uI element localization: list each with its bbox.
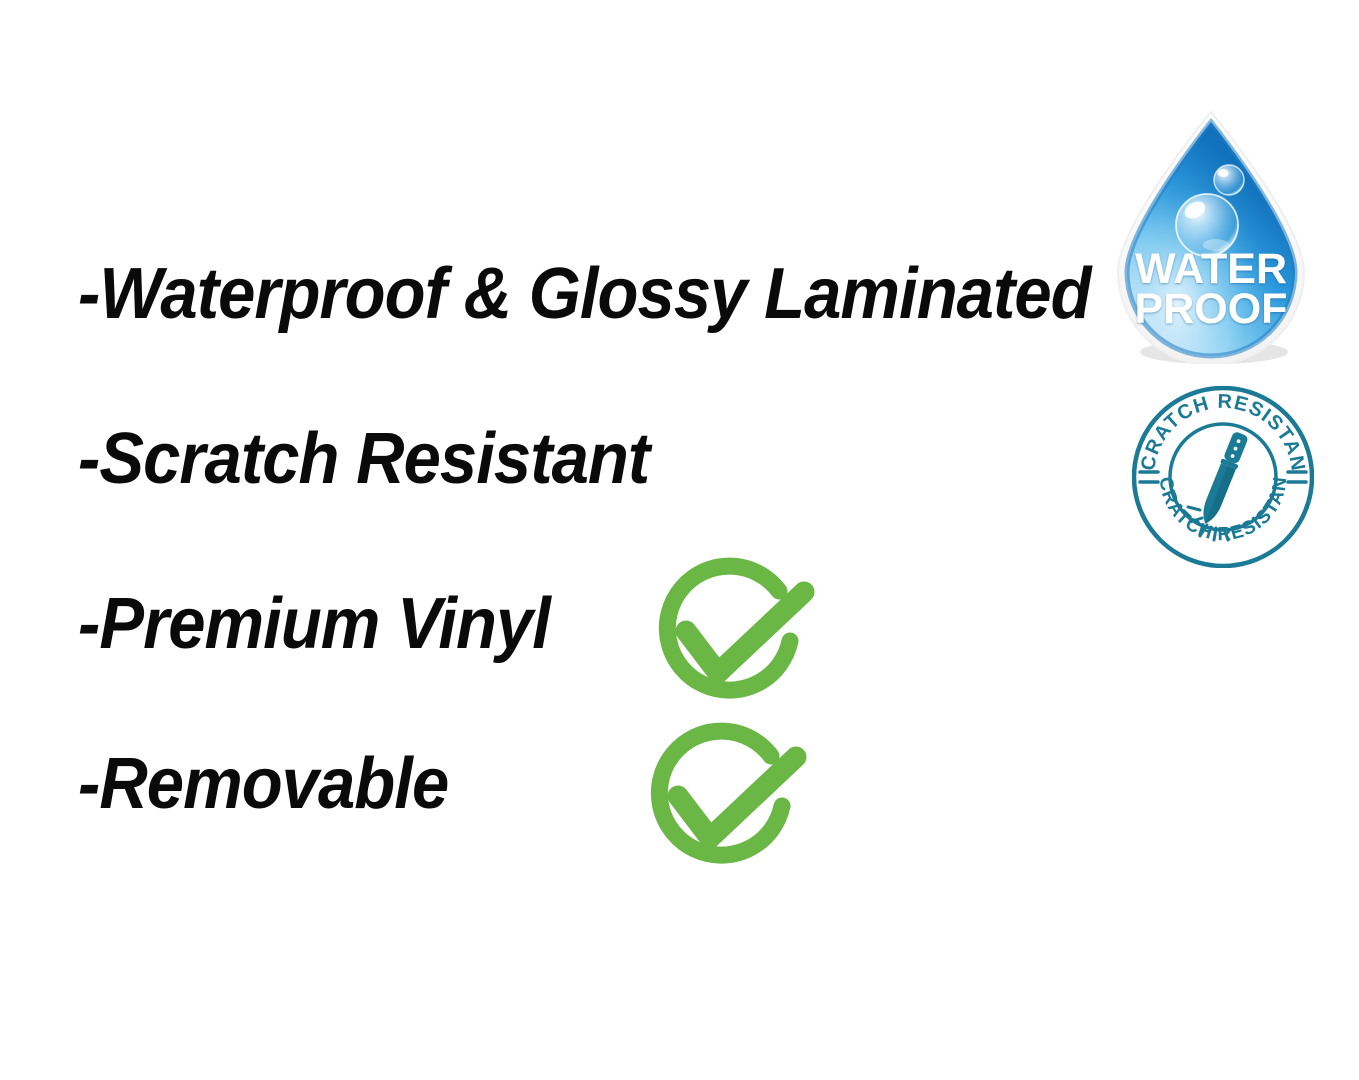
feature-item-waterproof-glossy-laminated: -Waterproof & Glossy Laminated	[78, 258, 1091, 330]
feature-item-scratch-resistant: -Scratch Resistant	[78, 423, 649, 495]
knife-stamp-icon: SCRATCH RESISTANT SCRATCH RESISTANT	[1132, 386, 1314, 568]
waterproof-badge: WATER PROOF	[1104, 108, 1318, 364]
scratch-resistant-badge: SCRATCH RESISTANT SCRATCH RESISTANT	[1132, 386, 1314, 568]
stamp-arc-text-top: SCRATCH RESISTANT	[1132, 386, 1309, 473]
feature-item-removable: -Removable	[78, 748, 448, 820]
promo-feature-panel: -Waterproof & Glossy Laminated -Scratch …	[0, 0, 1359, 1080]
check-circle-icon	[640, 545, 825, 730]
knife-icon	[1197, 430, 1250, 527]
check-removable	[632, 710, 817, 895]
check-premium-vinyl	[640, 545, 825, 730]
water-bubble-small-icon	[1214, 165, 1244, 195]
water-bubble-large-icon	[1176, 194, 1238, 256]
water-drop-icon	[1104, 108, 1318, 364]
feature-item-premium-vinyl: -Premium Vinyl	[78, 588, 550, 660]
check-circle-icon	[632, 710, 817, 895]
